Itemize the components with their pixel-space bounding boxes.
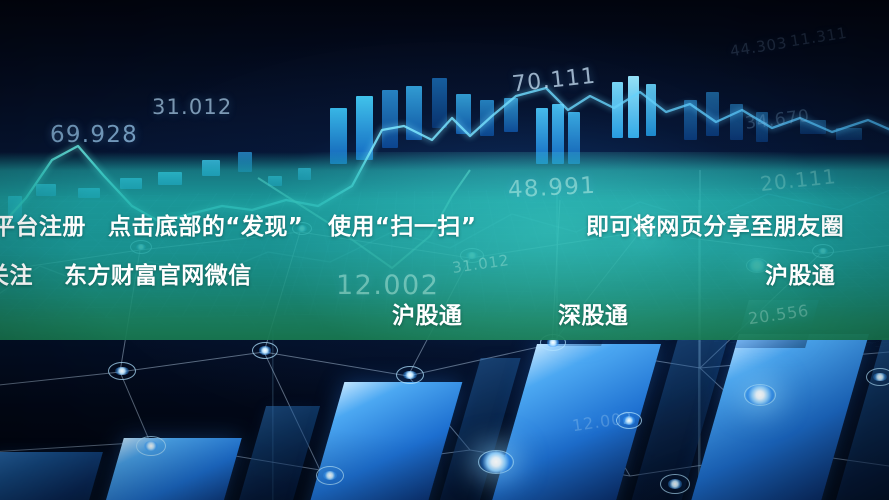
promo-text-seg-3b: 深股通: [558, 296, 628, 330]
glow-node: [616, 412, 642, 429]
promo-text-seg-2a: 关注: [0, 256, 33, 290]
glow-node: [108, 362, 136, 380]
glow-node: [316, 466, 344, 485]
glow-node: [660, 474, 690, 494]
glow-node: [252, 342, 278, 359]
promo-text-seg-1d: 即可将网页分享至朋友圈: [586, 207, 844, 241]
promo-text-seg-1a: 平台注册: [0, 207, 86, 241]
glow-node: [136, 436, 166, 456]
glow-node-bright: [478, 450, 514, 474]
promo-text-seg-1b: 点击底部的“发现”: [108, 207, 303, 241]
promo-text-seg-1c: 使用“扫一扫”: [328, 207, 476, 241]
glow-node: [396, 366, 424, 384]
bar-3d: [0, 452, 103, 500]
stock-market-banner: 69.92831.01270.11144.30311.31134.67012.0…: [0, 0, 889, 500]
glow-node: [866, 368, 889, 386]
promo-text-seg-2c: 沪股通: [765, 256, 835, 290]
glow-node-bright: [744, 384, 776, 406]
promo-text-seg-2b: 东方财富官网微信: [64, 256, 252, 290]
promo-text-seg-3a: 沪股通: [392, 296, 462, 330]
